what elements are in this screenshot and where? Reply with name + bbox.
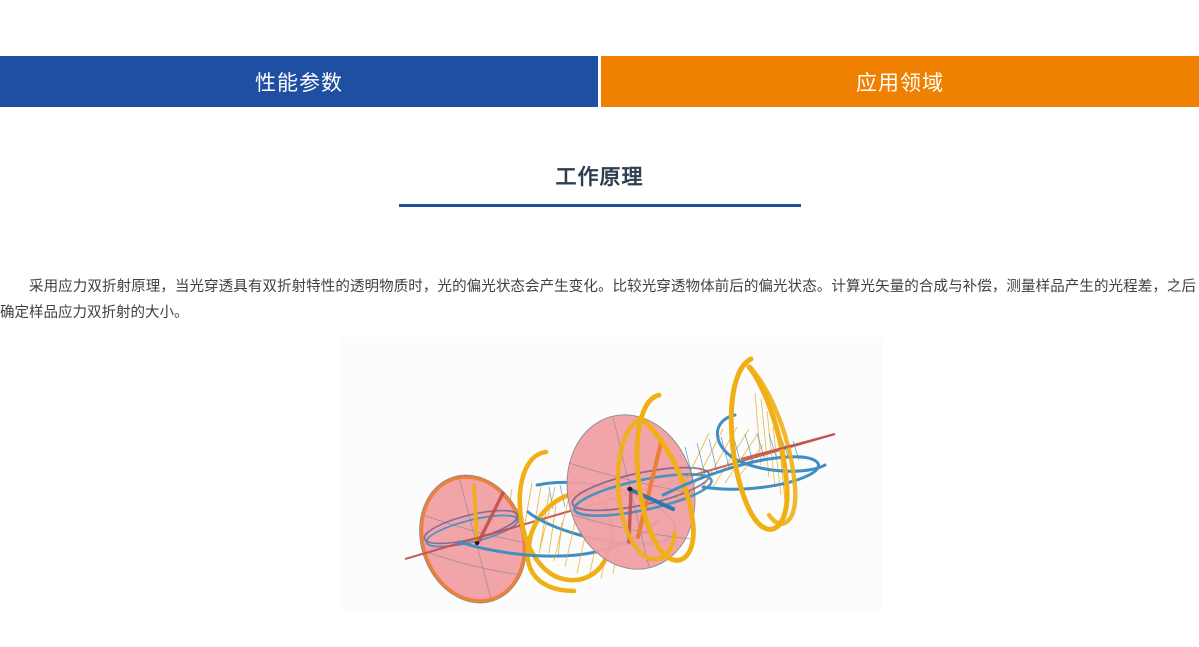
page-title: 工作原理 bbox=[0, 163, 1199, 193]
tab-application[interactable]: 应用领域 bbox=[601, 56, 1199, 107]
title-underline bbox=[399, 204, 801, 207]
tab-bar: 性能参数 应用领域 bbox=[0, 56, 1199, 107]
tab-performance-label: 性能参数 bbox=[255, 67, 343, 97]
tab-application-label: 应用领域 bbox=[856, 67, 944, 97]
tab-performance[interactable]: 性能参数 bbox=[0, 56, 598, 107]
principle-paragraph: 采用应力双折射原理，当光穿透具有双折射特性的透明物质时，光的偏光状态会产生变化。… bbox=[0, 274, 1196, 326]
section-header: 工作原理 bbox=[0, 163, 1199, 207]
principle-figure bbox=[341, 337, 882, 610]
polarized-light-diagram bbox=[341, 337, 882, 610]
